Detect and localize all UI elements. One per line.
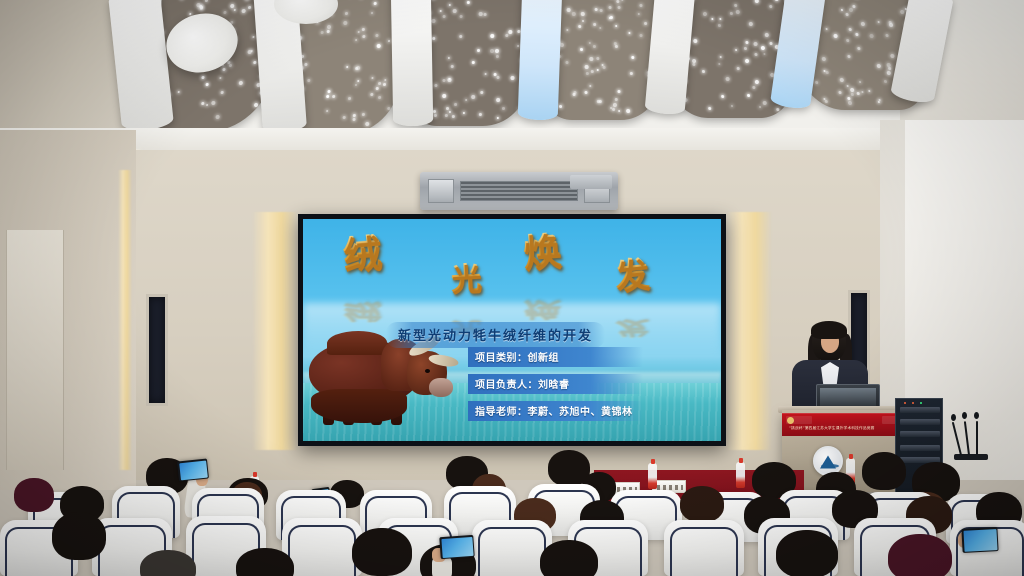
- audience-head: [862, 452, 906, 490]
- slide-title-char-3: 焕: [522, 232, 563, 273]
- wall-accent-light-left: [252, 212, 298, 450]
- audience-head: [352, 528, 412, 576]
- audience-head: [776, 530, 838, 576]
- water-bottle-1: [648, 463, 657, 489]
- slide-title-char-2: 光: [450, 260, 482, 300]
- rack-slot: [900, 419, 940, 425]
- podium-banner-text: “挑战杯”第四届江苏大学生课外学术科技作品竞赛: [789, 426, 903, 431]
- left-wall-panel: [6, 230, 64, 470]
- phone-screen: [441, 536, 473, 557]
- ac-vent-fin-left: [428, 179, 454, 203]
- gooseneck-microphone-stand: [952, 412, 992, 460]
- yak-eye: [425, 369, 430, 373]
- projection-screen: 绒 光 焕 发 绒 光 焕 发 新型光动力牦牛绒纤维的开发 项目类别：创新组 项…: [303, 219, 721, 441]
- mic-capsule-2: [962, 412, 967, 419]
- rack-slot: [900, 407, 940, 413]
- slide-info-row-category: 项目类别：创新组: [468, 347, 643, 367]
- audience-head: [680, 486, 724, 522]
- ceiling-tube-3: [391, 0, 433, 126]
- slide-title-char-4: 发: [613, 255, 651, 296]
- ceiling-tube-4: [518, 0, 563, 121]
- audience-seat[interactable]: [664, 520, 744, 576]
- projection-screen-frame: 绒 光 焕 发 绒 光 焕 发 新型光动力牦牛绒纤维的开发 项目类别：创新组 项…: [298, 214, 726, 446]
- slide-info-row-advisors: 指导老师：李蔚、苏旭中、黄锦林: [468, 401, 643, 421]
- audience-phone-1[interactable]: [177, 458, 209, 481]
- podium-banner: “挑战杯”第四届江苏大学生课外学术科技作品竞赛: [782, 413, 906, 436]
- rack-led: [912, 402, 914, 404]
- audience-head: [888, 534, 952, 576]
- conference-hall-photo: 绒 光 焕 发 绒 光 焕 发 新型光动力牦牛绒纤维的开发 项目类别：创新组 项…: [0, 0, 1024, 576]
- slide-info-row-leader: 项目负责人：刘晗睿: [468, 374, 643, 394]
- slide-title-char-3-reflection: 焕: [523, 300, 561, 321]
- rack-slot: [900, 445, 940, 451]
- rack-led: [904, 402, 906, 404]
- laptop-screen: [820, 388, 876, 408]
- mic-capsule-1: [951, 414, 956, 421]
- phone-screen: [179, 460, 208, 480]
- audience-head: [14, 478, 54, 512]
- rack-slot: [900, 431, 940, 437]
- audience-head: [540, 540, 598, 576]
- ceiling: [0, 0, 1024, 175]
- slide-title-char-1-reflection: 绒: [343, 302, 381, 323]
- ac-vent-grille: [460, 181, 578, 201]
- audience-phone-3[interactable]: [439, 535, 474, 559]
- slide-info-list: 项目类别：创新组 项目负责人：刘晗睿 指导老师：李蔚、苏旭中、黄锦林: [468, 347, 643, 428]
- speaker-hair-front: [811, 321, 847, 339]
- rack-led: [920, 402, 922, 404]
- slide-main-title: 绒 光 焕 发 绒 光 焕 发: [343, 233, 693, 313]
- audience-head: [52, 512, 106, 560]
- wall-accent-light-far-left: [118, 170, 132, 470]
- mic-gooseneck-3: [976, 421, 978, 455]
- emblem-wave-icon: [821, 464, 839, 468]
- phone-screen: [963, 529, 997, 552]
- banner-logo-icon: [787, 417, 794, 424]
- yak-muzzle: [429, 378, 453, 397]
- water-bottle-2: [736, 462, 745, 488]
- slide-title-char-1: 绒: [341, 233, 382, 274]
- slide-title-char-4-reflection: 发: [615, 318, 649, 339]
- yak-hump: [327, 331, 387, 355]
- slide-subtitle: 新型光动力牦牛绒纤维的开发: [386, 322, 605, 348]
- yak-fur-skirt: [311, 389, 407, 423]
- mic-gooseneck-1: [952, 422, 962, 455]
- ceiling-sensor-panel: [570, 175, 612, 189]
- mic-gooseneck-2: [964, 421, 970, 455]
- audience-phone-4[interactable]: [961, 527, 998, 553]
- mic-capsule-3: [974, 412, 979, 419]
- wall-speaker-left: [146, 294, 168, 406]
- audience-seat[interactable]: [282, 518, 362, 576]
